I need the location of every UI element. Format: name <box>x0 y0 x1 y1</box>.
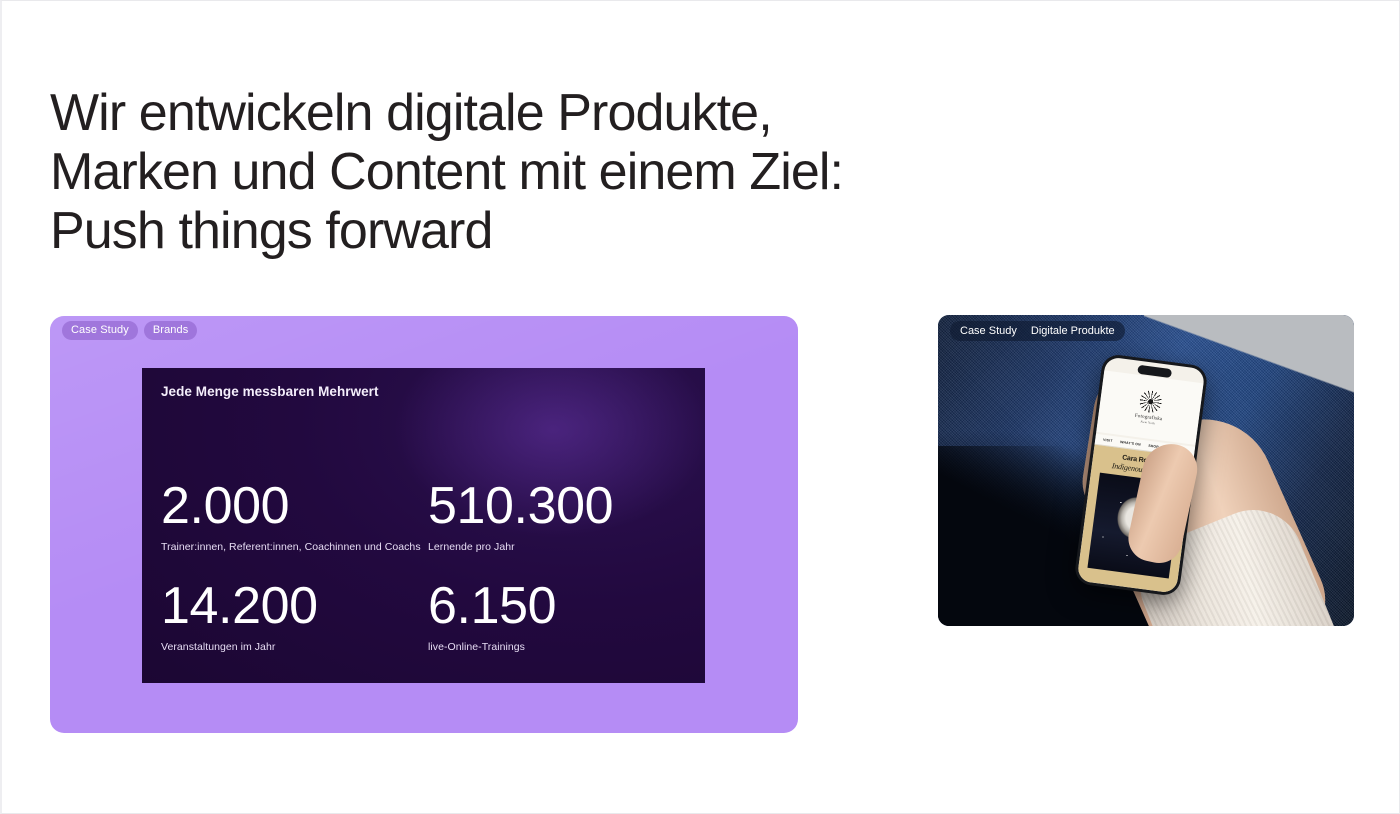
tag-group[interactable]: Case Study Digitale Produkte <box>950 321 1125 341</box>
stat-label: Trainer:innen, Referent:innen, Coachinne… <box>161 541 428 554</box>
stat-value: 6.150 <box>428 580 689 632</box>
purple-card-tags: Case Study Brands <box>62 321 197 340</box>
stats-grid: 2.000 Trainer:innen, Referent:innen, Coa… <box>161 480 689 680</box>
headline-line-3: Push things forward <box>50 202 1010 261</box>
tag-case-study[interactable]: Case Study <box>62 321 138 340</box>
stat-label: Lernende pro Jahr <box>428 541 689 554</box>
tag-digitale-produkte[interactable]: Digitale Produkte <box>1031 325 1115 337</box>
tag-brands[interactable]: Brands <box>144 321 197 340</box>
site-header: Fotografiska New York <box>1096 370 1203 445</box>
nav-item-whats-on[interactable]: WHAT'S ON <box>1120 440 1141 447</box>
photo-card-tags: Case Study Digitale Produkte <box>950 321 1125 341</box>
stat-value: 2.000 <box>161 480 428 532</box>
case-study-card-digitale-produkte[interactable]: Fotografiska New York VISIT WHAT'S ON SH… <box>938 315 1354 626</box>
tag-case-study[interactable]: Case Study <box>960 325 1017 337</box>
stat-value: 14.200 <box>161 580 428 632</box>
brand-sublabel: New York <box>1140 420 1155 426</box>
headline-line-1: Wir entwickeln digitale Produkte, <box>50 84 1010 143</box>
stat-label: Veranstaltungen im Jahr <box>161 641 428 654</box>
page-frame: Wir entwickeln digitale Produkte, Marken… <box>0 0 1400 814</box>
stats-panel-title: Jede Menge messbaren Mehrwert <box>161 384 379 399</box>
stat-value: 510.300 <box>428 480 689 532</box>
nav-item-visit[interactable]: VISIT <box>1103 438 1113 443</box>
stat-item: 14.200 Veranstaltungen im Jahr <box>161 580 428 680</box>
stats-panel: Jede Menge messbaren Mehrwert 2.000 Trai… <box>142 368 705 683</box>
stat-item: 6.150 live-Online-Trainings <box>428 580 689 680</box>
mandala-logo-icon <box>1138 389 1163 414</box>
page-title: Wir entwickeln digitale Produkte, Marken… <box>50 84 1010 261</box>
stat-item: 510.300 Lernende pro Jahr <box>428 480 689 580</box>
headline-line-2: Marken und Content mit einem Ziel: <box>50 143 1010 202</box>
stat-item: 2.000 Trainer:innen, Referent:innen, Coa… <box>161 480 428 580</box>
stat-label: live-Online-Trainings <box>428 641 689 654</box>
